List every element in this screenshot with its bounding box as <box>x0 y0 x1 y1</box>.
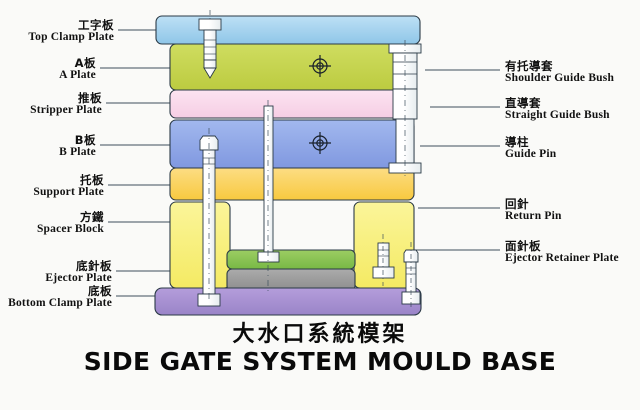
label-en: Top Clamp Plate <box>28 31 114 43</box>
label-straight-guide-bush: 直導套 Straight Guide Bush <box>505 97 610 121</box>
label-ejector-plate: 底針板 Ejector Plate <box>45 260 112 284</box>
label-en: B Plate <box>59 146 96 158</box>
label-cn: 底板 <box>8 285 112 297</box>
label-en: Support Plate <box>33 186 104 198</box>
label-cn: B板 <box>59 134 96 146</box>
title-chinese: 大水口系統模架 <box>0 316 640 348</box>
label-guide-pin: 導柱 Guide Pin <box>505 136 556 160</box>
label-cn: 回針 <box>505 198 562 210</box>
label-cn: 方鐵 <box>37 211 104 223</box>
label-en: Straight Guide Bush <box>505 109 610 121</box>
label-bottom-clamp-plate: 底板 Bottom Clamp Plate <box>8 285 112 309</box>
title-english: SIDE GATE SYSTEM MOULD BASE <box>0 347 640 376</box>
label-cn: 推板 <box>30 92 102 104</box>
label-en: Return Pin <box>505 210 562 222</box>
label-b-plate: B板 B Plate <box>59 134 96 158</box>
label-cn: 托板 <box>33 174 104 186</box>
label-en: Shoulder Guide Bush <box>505 72 614 84</box>
label-cn: 工字板 <box>28 19 114 31</box>
label-stripper-plate: 推板 Stripper Plate <box>30 92 102 116</box>
plate-bottom-clamp <box>155 288 421 315</box>
label-cn: 直導套 <box>505 97 610 109</box>
label-en: Ejector Retainer Plate <box>505 252 619 264</box>
label-cn: A板 <box>59 57 96 69</box>
plate-stripper <box>170 90 414 118</box>
label-a-plate: A板 A Plate <box>59 57 96 81</box>
label-en: Stripper Plate <box>30 104 102 116</box>
label-shoulder-guide-bush: 有托導套 Shoulder Guide Bush <box>505 60 614 84</box>
label-cn: 面針板 <box>505 240 619 252</box>
label-spacer-block: 方鐵 Spacer Block <box>37 211 104 235</box>
label-top-clamp-plate: 工字板 Top Clamp Plate <box>28 19 114 43</box>
label-cn: 底針板 <box>45 260 112 272</box>
label-en: Ejector Plate <box>45 272 112 284</box>
spacer-block-left <box>170 202 230 288</box>
label-ejector-retainer-plate: 面針板 Ejector Retainer Plate <box>505 240 619 264</box>
label-en: Guide Pin <box>505 148 556 160</box>
label-en: Bottom Clamp Plate <box>8 297 112 309</box>
label-cn: 有托導套 <box>505 60 614 72</box>
label-en: Spacer Block <box>37 223 104 235</box>
label-cn: 導柱 <box>505 136 556 148</box>
plate-ejector-retainer <box>227 250 355 269</box>
label-en: A Plate <box>59 69 96 81</box>
plate-top-clamp <box>156 16 420 44</box>
label-return-pin: 回針 Return Pin <box>505 198 562 222</box>
label-support-plate: 托板 Support Plate <box>33 174 104 198</box>
